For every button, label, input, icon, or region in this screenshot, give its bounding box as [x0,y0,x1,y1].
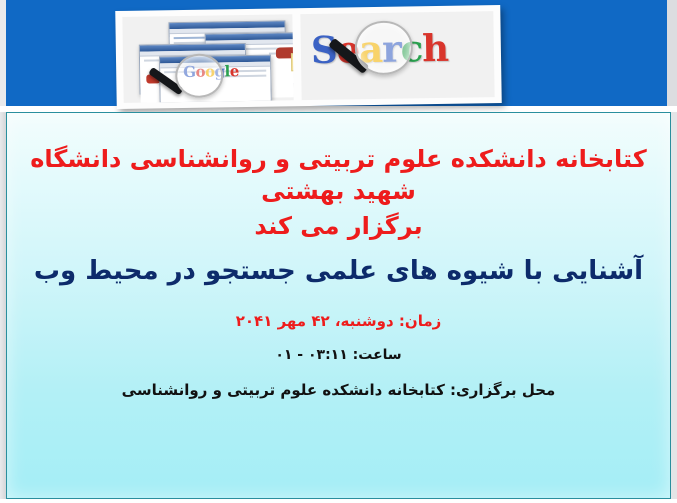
event-time: ساعت: ۱۱:۳۰ - ۱۰ [21,346,656,365]
search-wordmark-photo: Search [300,11,494,100]
organizer-headline-line2: برگزار می کند [21,210,656,242]
browser-windows-photo: Google [122,14,293,103]
event-title: آشنایی با شیوه های علمی جستجو در محیط وب [21,254,656,289]
event-location: محل برگزاری: کتابخانه دانشکده علوم تربیت… [21,380,656,400]
header-photo-card: Search [115,5,501,109]
event-date: زمان: دوشنبه، ۲۴ مهر ۱۴۰۲ [21,311,656,331]
search-letter-6: h [422,26,449,70]
content-panel: کتابخانه دانشکده علوم تربیتی و روانشناسی… [6,112,671,499]
organizer-headline-line1: کتابخانه دانشکده علوم تربیتی و روانشناسی… [21,143,656,208]
header-banner: Search [6,0,667,106]
google-letter-6: e [230,62,239,80]
sidebar-thumbnail [291,53,294,71]
announcement-poster: Search [0,0,677,503]
banner-edge-right [667,0,677,106]
panel-edge-right [671,112,677,499]
